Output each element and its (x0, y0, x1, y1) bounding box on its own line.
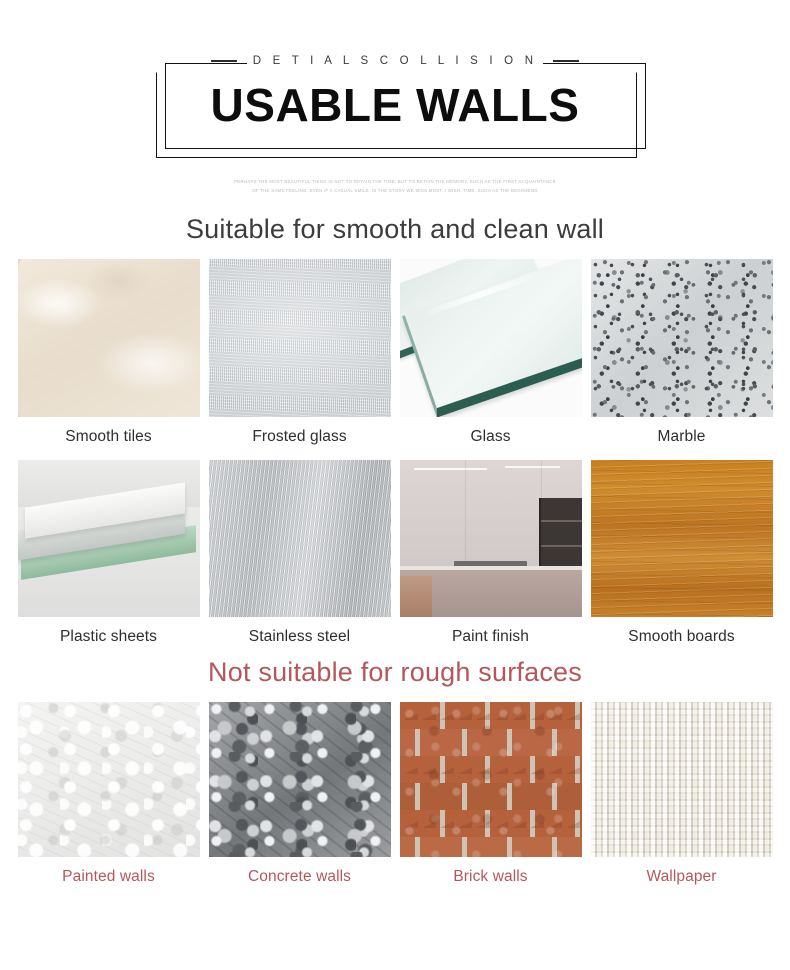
material-card-plastic-sheets: Plastic sheets (18, 460, 200, 646)
material-card-paint-finish: Paint finish (400, 460, 582, 646)
kitchen-shelf (539, 498, 581, 570)
material-card-marble: Marble (591, 259, 773, 446)
wallpaper-image (591, 702, 773, 857)
material-label: Wallpaper (591, 857, 773, 886)
kitchen-cabinet (400, 576, 433, 617)
page-title: USABLE WALLS (0, 78, 790, 132)
eyebrow-rule-left (211, 60, 237, 61)
material-label: Painted walls (18, 857, 200, 886)
suitable-grid-row-2: Plastic sheets Stainless steel Paint fin… (0, 460, 790, 646)
material-card-painted-walls: Painted walls (18, 702, 200, 886)
material-card-wallpaper: Wallpaper (591, 702, 773, 886)
smooth-boards-image (591, 460, 773, 617)
material-label: Paint finish (400, 617, 582, 646)
brick-grain-overlay (400, 702, 582, 857)
material-card-concrete-walls: Concrete walls (209, 702, 391, 886)
lede-paragraph: PERHAPS THE MOST BEAUTIFUL THING IS NOT … (0, 177, 790, 195)
page-header: D E T I A L S C O L L I S I O N USABLE W… (0, 0, 790, 210)
eyebrow-label: D E T I A L S C O L L I S I O N (247, 55, 543, 67)
ceiling-light-left (414, 468, 487, 470)
plastic-sheets-image (18, 460, 200, 617)
brick-walls-image (400, 702, 582, 857)
material-label: Marble (591, 417, 773, 446)
wall-seam-1 (465, 460, 466, 573)
material-card-stainless-steel: Stainless steel (209, 460, 391, 646)
material-label: Frosted glass (209, 417, 391, 446)
suitable-heading: Suitable for smooth and clean wall (0, 210, 790, 245)
not-suitable-heading: Not suitable for rough surfaces (0, 646, 790, 688)
stainless-steel-image (209, 460, 391, 617)
material-label: Stainless steel (209, 617, 391, 646)
eyebrow: D E T I A L S C O L L I S I O N (0, 55, 790, 67)
material-label: Glass (400, 417, 582, 446)
material-label: Plastic sheets (18, 617, 200, 646)
eyebrow-rule-right (553, 60, 579, 61)
material-card-glass: Glass (400, 259, 582, 446)
material-card-frosted-glass: Frosted glass (209, 259, 391, 446)
painted-walls-image (18, 702, 200, 857)
material-label: Smooth tiles (18, 417, 200, 446)
lede-line-1: PERHAPS THE MOST BEAUTIFUL THING IS NOT … (0, 177, 790, 186)
smooth-tiles-image (18, 259, 200, 417)
marble-image (591, 259, 773, 417)
material-card-smooth-tiles: Smooth tiles (18, 259, 200, 446)
paint-finish-image (400, 460, 582, 617)
material-label: Smooth boards (591, 617, 773, 646)
glass-image (400, 259, 582, 417)
material-label: Concrete walls (209, 857, 391, 886)
frosted-glass-image (209, 259, 391, 417)
shelf-divider-2 (541, 545, 581, 547)
material-card-smooth-boards: Smooth boards (591, 460, 773, 646)
shelf-divider-1 (541, 520, 581, 522)
material-card-brick-walls: Brick walls (400, 702, 582, 886)
concrete-walls-image (209, 702, 391, 857)
suitable-grid-row-1: Smooth tiles Frosted glass Glass Marble (0, 259, 790, 446)
material-label: Brick walls (400, 857, 582, 886)
not-suitable-grid: Painted walls Concrete walls Brick walls… (0, 702, 790, 886)
lede-line-2: OF THE SAME FEELING, EVEN IF A CASUAL SM… (0, 186, 790, 195)
ceiling-light-right (505, 466, 560, 468)
